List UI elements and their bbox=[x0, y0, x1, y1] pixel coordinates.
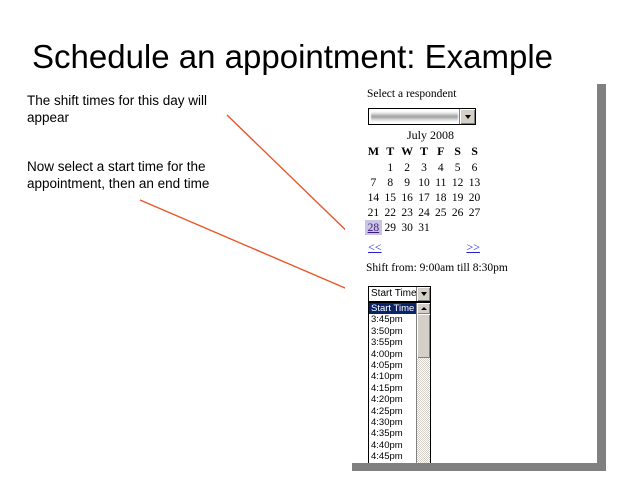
respondent-label: Select a respondent bbox=[367, 88, 456, 100]
page-title: Schedule an appointment: Example bbox=[32, 38, 612, 76]
weekday-header: S bbox=[466, 144, 483, 160]
start-time-option-container: Start Time 3:45pm 3:50pm 3:55pm 4:00pm 4… bbox=[369, 303, 416, 463]
calendar-day[interactable] bbox=[432, 220, 449, 235]
weekday-header: F bbox=[432, 144, 449, 160]
list-item[interactable]: 4:40pm bbox=[369, 440, 416, 451]
calendar-week-row: 7 8 9 10 11 12 13 bbox=[365, 175, 483, 190]
list-item[interactable]: 4:20pm bbox=[369, 394, 416, 405]
panel-shadow-bottom bbox=[352, 463, 606, 471]
list-item[interactable]: 4:00pm bbox=[369, 349, 416, 360]
callout-text-shift-times: The shift times for this day will appear bbox=[27, 92, 242, 126]
calendar-day[interactable]: 22 bbox=[382, 205, 399, 220]
dropdown-scrollbar[interactable] bbox=[416, 303, 430, 463]
calendar-day[interactable]: 29 bbox=[382, 220, 399, 235]
calendar-month-caption: July 2008 bbox=[365, 128, 490, 144]
calendar-day[interactable]: 21 bbox=[365, 205, 382, 220]
calendar-day[interactable] bbox=[466, 220, 483, 235]
caret-down-glyph bbox=[465, 115, 471, 119]
calendar-day[interactable]: 4 bbox=[432, 160, 449, 175]
calendar-day[interactable]: 12 bbox=[449, 175, 466, 190]
calendar-day[interactable]: 1 bbox=[382, 160, 399, 175]
calendar-week-row: 1 2 3 4 5 6 bbox=[365, 160, 483, 175]
start-time-dropdown-list[interactable]: Start Time 3:45pm 3:50pm 3:55pm 4:00pm 4… bbox=[368, 302, 431, 463]
list-item[interactable]: 4:10pm bbox=[369, 371, 416, 382]
caret-up-icon bbox=[421, 307, 427, 310]
calendar-navigation: << >> bbox=[365, 240, 483, 254]
calendar-day[interactable]: 9 bbox=[399, 175, 416, 190]
list-item[interactable]: 4:30pm bbox=[369, 417, 416, 428]
panel-shadow-right bbox=[597, 84, 606, 469]
calendar-week-row: 14 15 16 17 18 19 20 bbox=[365, 190, 483, 205]
arrow-to-start-time-dropdown bbox=[140, 200, 352, 291]
calendar-day[interactable]: 6 bbox=[466, 160, 483, 175]
weekday-header: T bbox=[382, 144, 399, 160]
calendar-table: M T W T F S S 1 2 3 4 5 6 bbox=[365, 144, 483, 235]
list-item[interactable]: 4:05pm bbox=[369, 360, 416, 371]
start-time-combobox-value: Start Time bbox=[369, 287, 416, 301]
calendar-day[interactable]: 2 bbox=[399, 160, 416, 175]
calendar-day[interactable]: 26 bbox=[449, 205, 466, 220]
calendar-day[interactable] bbox=[365, 160, 382, 175]
list-item[interactable]: 4:50pm bbox=[369, 462, 416, 463]
calendar-day[interactable]: 16 bbox=[399, 190, 416, 205]
list-item[interactable]: 3:45pm bbox=[369, 314, 416, 325]
embedded-screenshot-panel: Select a respondent July 2008 M T W T F … bbox=[345, 78, 595, 463]
calendar-day[interactable]: 3 bbox=[416, 160, 433, 175]
respondent-select[interactable] bbox=[368, 108, 476, 125]
list-item[interactable]: 4:45pm bbox=[369, 451, 416, 462]
list-item[interactable]: 4:15pm bbox=[369, 383, 416, 394]
calendar-day[interactable]: 20 bbox=[466, 190, 483, 205]
calendar-day[interactable]: 17 bbox=[416, 190, 433, 205]
respondent-selected-value bbox=[371, 111, 458, 122]
shift-hours-text: Shift from: 9:00am till 8:30pm bbox=[366, 262, 508, 274]
calendar-day[interactable]: 25 bbox=[432, 205, 449, 220]
calendar-day[interactable]: 27 bbox=[466, 205, 483, 220]
caret-down-glyph bbox=[421, 292, 427, 296]
calendar-day[interactable]: 8 bbox=[382, 175, 399, 190]
weekday-header: W bbox=[399, 144, 416, 160]
caret-down-icon[interactable] bbox=[459, 109, 475, 124]
weekday-header: S bbox=[449, 144, 466, 160]
calendar-day[interactable]: 5 bbox=[449, 160, 466, 175]
calendar-header-row: M T W T F S S bbox=[365, 144, 483, 160]
calendar-day[interactable]: 19 bbox=[449, 190, 466, 205]
list-item[interactable]: 4:35pm bbox=[369, 428, 416, 439]
calendar-day[interactable]: 13 bbox=[466, 175, 483, 190]
calendar-day[interactable]: 23 bbox=[399, 205, 416, 220]
calendar-day[interactable] bbox=[449, 220, 466, 235]
calendar-day[interactable]: 14 bbox=[365, 190, 382, 205]
list-item[interactable]: 3:55pm bbox=[369, 337, 416, 348]
weekday-header: T bbox=[416, 144, 433, 160]
calendar-day[interactable]: 31 bbox=[416, 220, 433, 235]
caret-down-icon[interactable] bbox=[416, 287, 430, 301]
calendar-week-row: 28 29 30 31 bbox=[365, 220, 483, 235]
calendar-next-month-link[interactable]: >> bbox=[466, 240, 480, 255]
callout-text-select-start-time: Now select a start time for the appointm… bbox=[27, 158, 247, 192]
scrollbar-thumb[interactable] bbox=[417, 314, 430, 358]
calendar-day[interactable]: 15 bbox=[382, 190, 399, 205]
start-time-combobox[interactable]: Start Time bbox=[368, 286, 431, 302]
list-item[interactable]: 3:50pm bbox=[369, 326, 416, 337]
calendar-day[interactable]: 18 bbox=[432, 190, 449, 205]
list-item[interactable]: Start Time bbox=[369, 303, 416, 314]
calendar-widget: July 2008 M T W T F S S 1 2 3 bbox=[365, 128, 490, 254]
weekday-header: M bbox=[365, 144, 382, 160]
calendar-day[interactable]: 7 bbox=[365, 175, 382, 190]
calendar-week-row: 21 22 23 24 25 26 27 bbox=[365, 205, 483, 220]
calendar-day[interactable]: 24 bbox=[416, 205, 433, 220]
calendar-day[interactable]: 10 bbox=[416, 175, 433, 190]
calendar-day-selected[interactable]: 28 bbox=[365, 220, 382, 235]
scroll-up-button[interactable] bbox=[417, 303, 430, 314]
list-item[interactable]: 4:25pm bbox=[369, 406, 416, 417]
calendar-prev-month-link[interactable]: << bbox=[368, 240, 382, 255]
calendar-day[interactable]: 30 bbox=[399, 220, 416, 235]
calendar-day[interactable]: 11 bbox=[432, 175, 449, 190]
